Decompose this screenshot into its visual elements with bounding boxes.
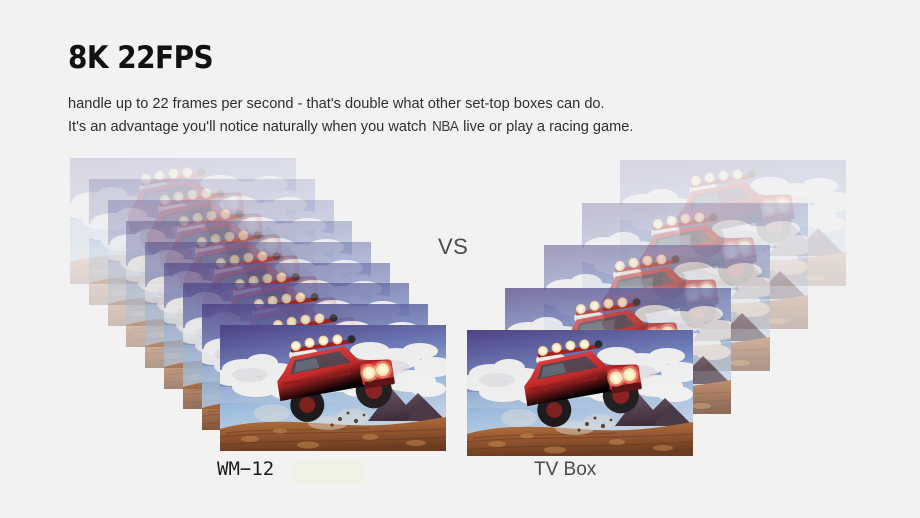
subtitle-line-1: handle up to 22 frames per second - that… bbox=[68, 93, 828, 116]
subtitle-line-2-after: live or play a racing game. bbox=[459, 119, 633, 135]
left-stack-frame bbox=[220, 325, 446, 451]
caption-left: WM−12 bbox=[217, 458, 274, 480]
promo-slide: 8K 22FPS handle up to 22 frames per seco… bbox=[0, 0, 920, 518]
subtitle-line-2-before: It's an advantage you'll notice naturall… bbox=[68, 119, 431, 135]
vs-label: VS bbox=[438, 234, 468, 260]
right-stack-frame bbox=[467, 330, 693, 456]
redaction-block bbox=[291, 461, 363, 483]
subtitle-line-2: It's an advantage you'll notice naturall… bbox=[68, 116, 828, 139]
nba-text: NBA bbox=[432, 116, 458, 139]
caption-right: TV Box bbox=[534, 459, 596, 481]
page-subtitle: handle up to 22 frames per second - that… bbox=[68, 93, 828, 139]
page-title: 8K 22FPS bbox=[68, 40, 213, 76]
